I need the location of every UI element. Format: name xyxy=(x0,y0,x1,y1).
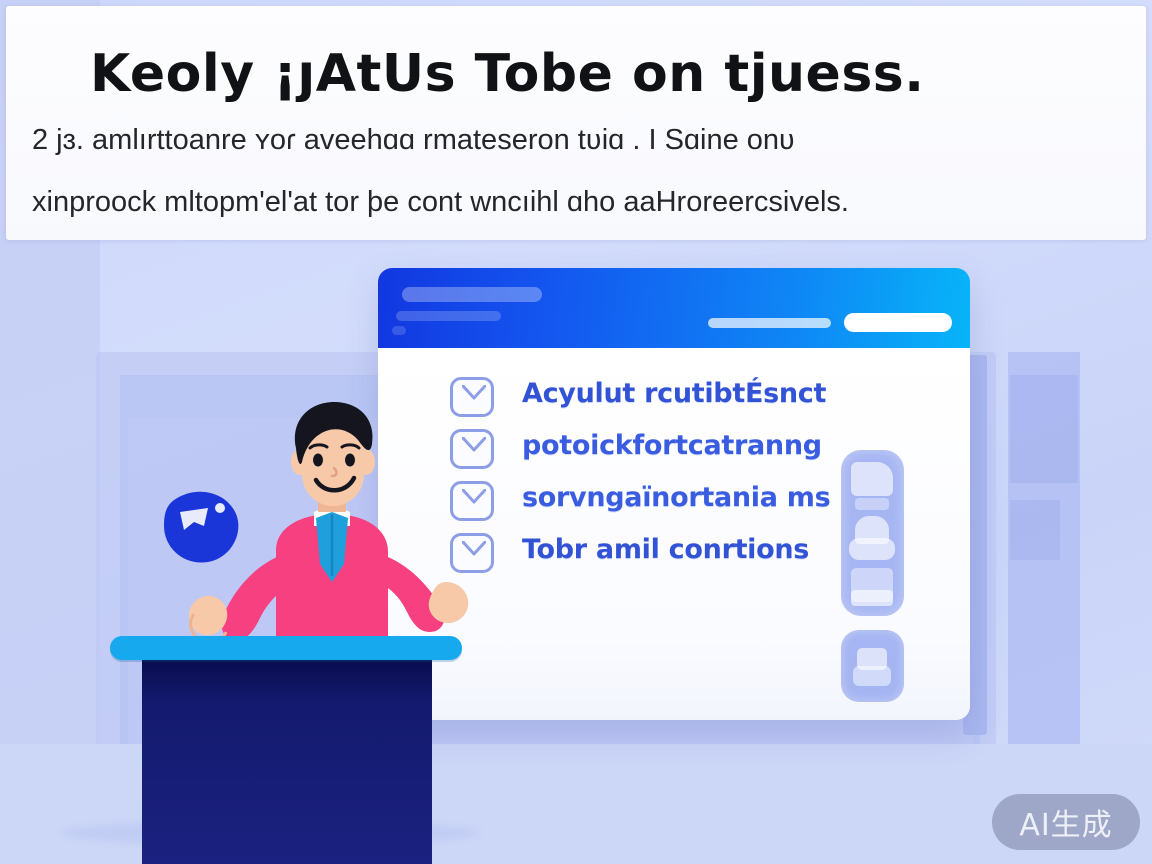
checklist-item-label: sorvngaïnortania ms xyxy=(522,482,830,513)
illustration-canvas: Acyulut rcutibtÉsnct potoickfortcatranng xyxy=(0,0,1152,864)
podium-top-bar xyxy=(110,636,462,660)
header-subtitle-placeholder xyxy=(396,311,501,321)
header-action-button-placeholder[interactable] xyxy=(844,313,952,332)
caption-body-line-2: xinproock mltopm'el'at tor þe cont wncıi… xyxy=(32,186,1136,219)
background-strip-block-upper xyxy=(1010,375,1078,483)
header-badge-placeholder xyxy=(392,326,406,335)
checklist-item-label: Tobr amil conrtions xyxy=(522,534,809,565)
podium xyxy=(142,655,432,864)
abstract-card-tile-icon[interactable] xyxy=(841,630,904,702)
caption-body-line-1: 2 jɜ. amlırttoanre ʏoɾ aveehɑɑ rmatesero… xyxy=(32,124,1136,157)
check-mark-icon xyxy=(462,385,486,400)
caption-title: Keoly ¡ȷAtUs Tobe on tjuess. xyxy=(90,44,1100,104)
ai-generated-watermark: AI生成 xyxy=(992,794,1140,850)
checklist-item-label: Acyulut rcutibtÉsnct xyxy=(522,378,826,409)
background-strip-block-lower xyxy=(1010,500,1060,560)
app-window-header xyxy=(378,268,970,348)
header-nav-placeholder[interactable] xyxy=(708,318,831,328)
caption-card: Keoly ¡ȷAtUs Tobe on tjuess. 2 jɜ. amlır… xyxy=(6,6,1146,240)
header-title-placeholder xyxy=(402,287,542,302)
abstract-shapes-tile-icon[interactable] xyxy=(841,450,904,616)
checklist-item-label: potoickfortcatranng xyxy=(522,430,822,461)
